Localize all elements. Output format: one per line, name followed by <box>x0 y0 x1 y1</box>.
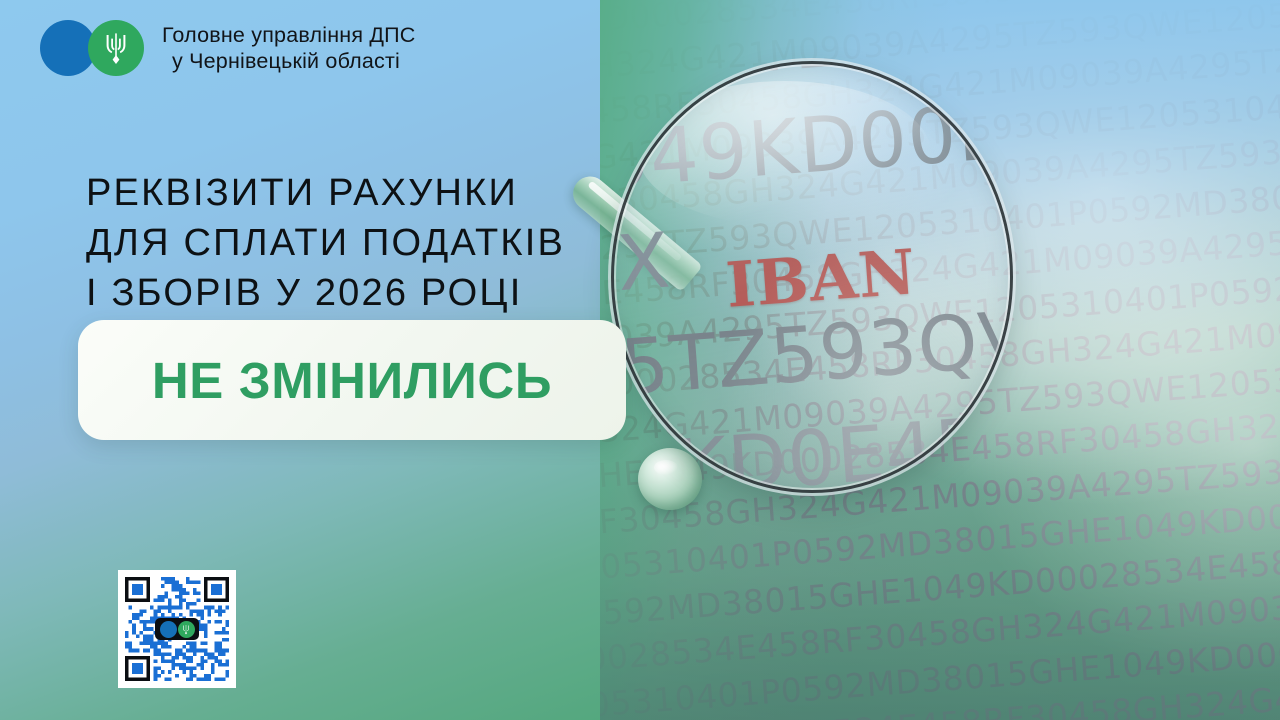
iban-highlight-text: IBAN <box>724 235 919 322</box>
qr-logo-blue-circle-icon <box>160 621 177 638</box>
brand-text-block: Головне управління ДПС у Чернівецькій об… <box>162 22 416 74</box>
headline-line-2: ДЛЯ СПЛАТИ ПОДАТКІВ <box>86 218 565 268</box>
page-title: РЕКВІЗИТИ РАХУНКИ ДЛЯ СПЛАТИ ПОДАТКІВ І … <box>86 168 565 318</box>
qr-logo-green-circle-icon <box>178 621 195 638</box>
status-badge-label: НЕ ЗМІНИЛИСЬ <box>152 351 552 410</box>
brand-line-1: Головне управління ДПС <box>162 22 416 48</box>
magnifying-glass-icon: A4295TZ5F1049KD00ER4X295TZ593QV049KD0E45… <box>612 62 1012 492</box>
ukraine-trident-icon <box>103 31 129 65</box>
brand-line-2: у Чернівецькій області <box>162 48 416 74</box>
qr-trident-icon <box>182 624 190 635</box>
qr-code-icon[interactable] <box>118 570 236 688</box>
status-badge: НЕ ЗМІНИЛИСЬ <box>78 320 626 440</box>
qr-center-logo <box>155 618 199 640</box>
headline-line-1: РЕКВІЗИТИ РАХУНКИ <box>86 168 565 218</box>
poster-canvas: 049KD00028534E458RF30458GH324G421M09039A… <box>0 0 1280 720</box>
brand-header: Головне управління ДПС у Чернівецькій об… <box>40 20 416 76</box>
brand-green-circle-icon <box>88 20 144 76</box>
magnifier-lens: A4295TZ5F1049KD00ER4X295TZ593QV049KD0E45… <box>614 64 1010 490</box>
qr-code-canvas <box>125 577 229 681</box>
headline-line-3: І ЗБОРІВ У 2026 РОЦІ <box>86 268 565 318</box>
